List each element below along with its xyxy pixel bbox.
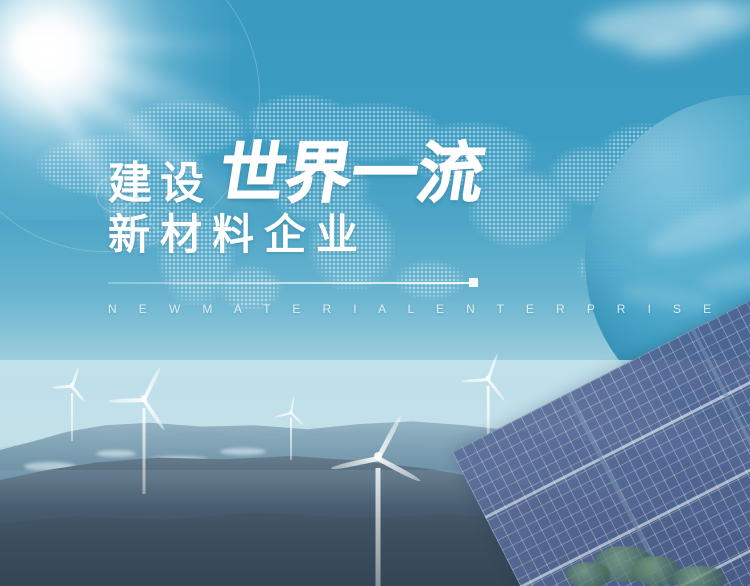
headline-accent-text: 世界一流	[215, 140, 489, 206]
headline-line-1: 建设 世界一流	[108, 132, 668, 206]
hero-banner: 建设 世界一流 新材料企业 N E W M A T E R I A L E N …	[0, 0, 750, 586]
headline-plain-text: 建设	[108, 162, 212, 206]
divider-end-cap	[469, 278, 478, 287]
divider-rule	[108, 282, 470, 284]
banner-copy: 建设 世界一流 新材料企业 N E W M A T E R I A L E N …	[108, 132, 668, 316]
headline-line-2: 新材料企业	[108, 214, 668, 256]
planet-cloud-band	[696, 249, 750, 298]
subtitle-text: N E W M A T E R I A L E N T E R P R I S …	[108, 302, 668, 316]
